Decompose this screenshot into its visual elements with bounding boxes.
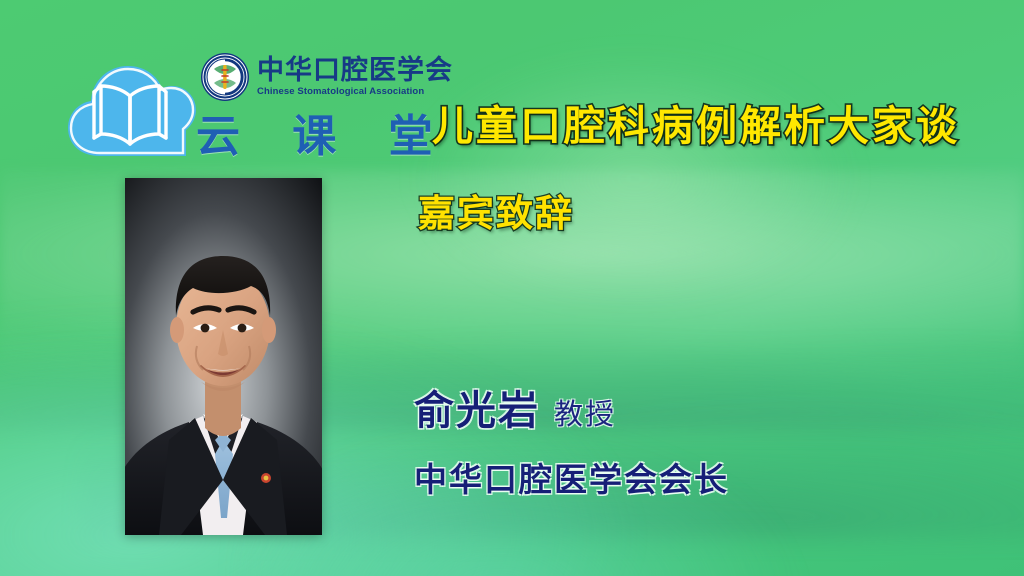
speaker-affiliation: 中华口腔医学会会长 xyxy=(414,453,729,501)
page-subtitle: 嘉宾致辞 xyxy=(418,183,574,237)
speaker-portrait xyxy=(125,178,322,535)
platform-name: 云 课 堂 xyxy=(196,100,452,164)
csa-circular-emblem-icon xyxy=(200,52,250,102)
association-name-cn: 中华口腔医学会 xyxy=(257,57,453,84)
speaker-portrait-image xyxy=(125,178,322,535)
page-title: 儿童口腔科病例解析大家谈 xyxy=(432,92,960,152)
association-branding: 中华口腔医学会 Chinese Stomatological Associati… xyxy=(200,52,453,102)
cloud-book-icon xyxy=(64,52,196,164)
association-name-en: Chinese Stomatological Association xyxy=(257,87,453,97)
presentation-slide: 中华口腔医学会 Chinese Stomatological Associati… xyxy=(0,0,1024,576)
association-wordmark: 中华口腔医学会 Chinese Stomatological Associati… xyxy=(257,57,453,97)
speaker-rank: 教授 xyxy=(554,391,616,433)
speaker-name: 俞光岩 xyxy=(414,378,540,436)
speaker-identity: 俞光岩 教授 xyxy=(414,378,616,436)
